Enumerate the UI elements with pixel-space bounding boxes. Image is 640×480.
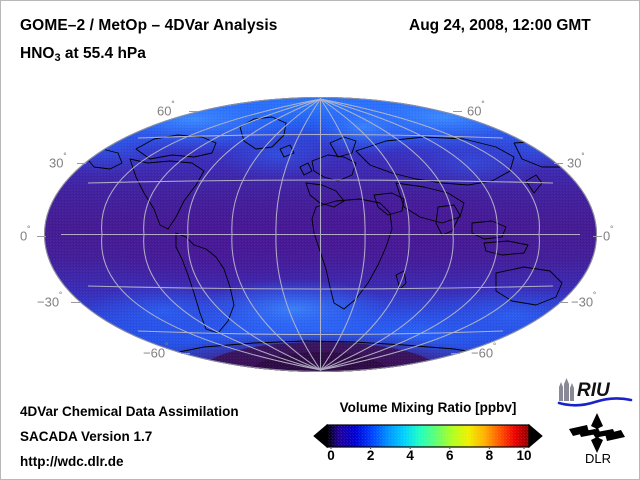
mollweide-map-svg (44, 97, 597, 372)
tick-right-0 (593, 236, 602, 237)
footer-line-1: 4DVar Chemical Data Assimilation (20, 404, 239, 419)
tick-left-60 (189, 111, 198, 112)
riu-tower-icon (559, 378, 574, 401)
colorbar-tick-6: 6 (446, 448, 454, 463)
colorbar-tick-8: 8 (486, 448, 494, 463)
dlr-wordmark: DLR (585, 451, 611, 464)
map-data-layer (44, 97, 597, 372)
lat-label-left-30: 30˚ (49, 154, 67, 170)
colorbar-high-extend-arrow (529, 425, 542, 447)
lat-label-right-m30: −30˚ (571, 293, 596, 309)
world-map (44, 97, 597, 372)
tick-left-m30 (71, 302, 80, 303)
lat-label-left-m60: −60˚ (143, 344, 168, 360)
footer-line-2: SACADA Version 1.7 (20, 429, 152, 444)
lat-label-left-0: 0˚ (20, 227, 31, 243)
lat-label-right-60: 60˚ (467, 102, 485, 118)
species-subscript: 3 (54, 52, 60, 64)
lat-label-right-30: 30˚ (567, 154, 585, 170)
plot-window: GOME–2 / MetOp – 4DVar Analysis Aug 24, … (0, 0, 640, 480)
colorbar-tick-0: 0 (327, 448, 335, 463)
species-level-label: HNO3 at 55.4 hPa (20, 45, 146, 63)
dlr-mark-icon (569, 413, 625, 453)
tick-right-60 (453, 111, 462, 112)
tick-left-30 (77, 163, 86, 164)
tick-right-m30 (559, 302, 568, 303)
colorbar-tick-10: 10 (516, 448, 531, 463)
lat-label-right-0: 0˚ (603, 227, 614, 243)
page-title: GOME–2 / MetOp – 4DVar Analysis (20, 17, 278, 35)
riu-wordmark: RIU (577, 380, 611, 401)
footer-url[interactable]: http://wdc.dlr.de (20, 454, 124, 469)
tick-right-30 (554, 163, 563, 164)
species-name: HNO (20, 45, 54, 62)
riu-logo: RIU (557, 377, 633, 407)
tick-right-m60 (451, 353, 460, 354)
lat-label-right-m60: −60˚ (471, 344, 496, 360)
colorbar: Volume Mixing Ratio [ppbv] (313, 400, 543, 475)
colorbar-tick-labels: 0 2 4 6 8 10 (313, 448, 543, 468)
lat-label-left-m30: −30˚ (37, 293, 62, 309)
colorbar-tick-4: 4 (406, 448, 414, 463)
colorbar-gradient (313, 423, 543, 449)
tick-left-0 (37, 236, 46, 237)
lat-label-left-60: 60˚ (157, 102, 175, 118)
colorbar-tick-2: 2 (367, 448, 375, 463)
pressure-level: at 55.4 hPa (61, 45, 146, 62)
colorbar-low-extend-arrow (314, 425, 327, 447)
timestamp-label: Aug 24, 2008, 12:00 GMT (409, 17, 591, 35)
tick-left-m60 (181, 353, 190, 354)
dlr-logo: DLR (567, 412, 629, 464)
colorbar-title: Volume Mixing Ratio [ppbv] (313, 400, 543, 415)
graticule (61, 97, 580, 372)
